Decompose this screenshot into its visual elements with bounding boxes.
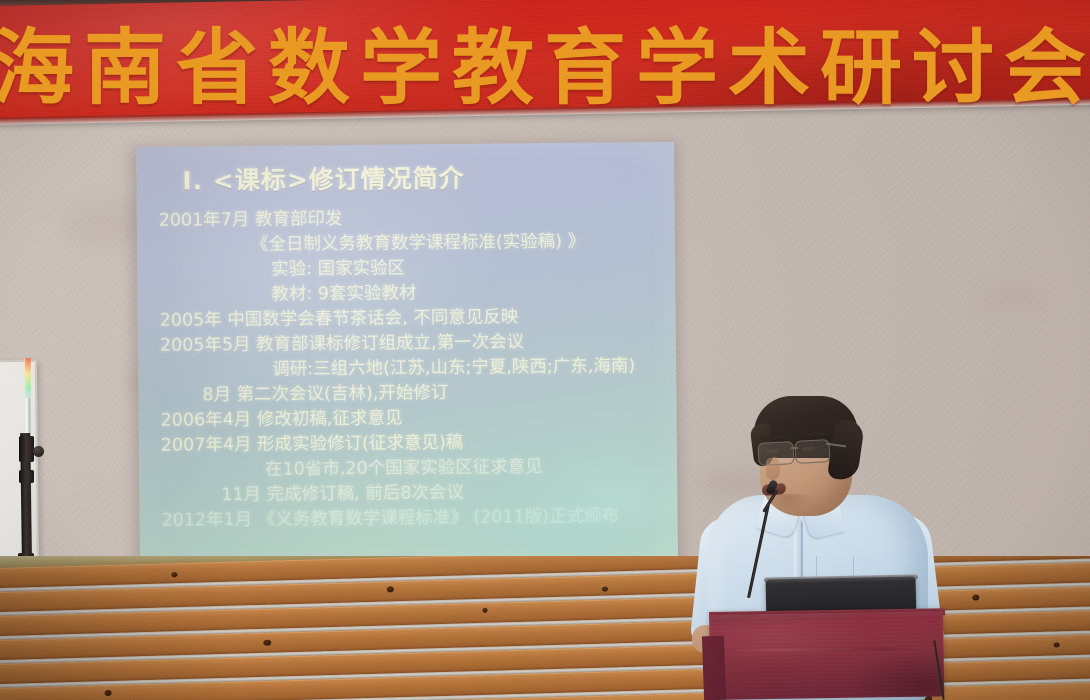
slide-text-line: 调研:三组六地(江苏,山东;宁夏,陕西;广东,海南) bbox=[160, 354, 678, 384]
podium-with-red-cloth bbox=[709, 611, 944, 700]
wall-smudge bbox=[978, 290, 1048, 306]
banner-title-text: 海南省数学教育学术研讨会 bbox=[0, 10, 1090, 110]
conference-photo-scene: 海南省数学教育学术研讨会 I. <课标>修订情况简介 2001年7月 教育部印发… bbox=[0, 0, 1090, 700]
podium-cloth-left-flap bbox=[702, 636, 726, 700]
presentation-slide: I. <课标>修订情况简介 2001年7月 教育部印发《全日制义务教育数学课程标… bbox=[136, 142, 678, 574]
glasses-bridge bbox=[791, 447, 798, 449]
whiteboard-rail-highlight bbox=[25, 358, 31, 398]
stand-clamp-upper bbox=[19, 436, 34, 462]
slide-title: I. <课标>修订情况简介 bbox=[182, 159, 465, 198]
speaker-nose bbox=[766, 458, 780, 480]
stand-clamp-mid bbox=[19, 470, 34, 483]
stand-adjust-knob bbox=[33, 446, 44, 457]
slide-text-line: 2012年1月 《义务教育数学课程标准》 (2011版)正式颁布 bbox=[161, 504, 678, 534]
projection-screen: I. <课标>修订情况简介 2001年7月 教育部印发《全日制义务教育数学课程标… bbox=[136, 142, 678, 574]
slide-body: 2001年7月 教育部印发《全日制义务教育数学课程标准(实验稿) 》实验: 国家… bbox=[159, 204, 678, 534]
